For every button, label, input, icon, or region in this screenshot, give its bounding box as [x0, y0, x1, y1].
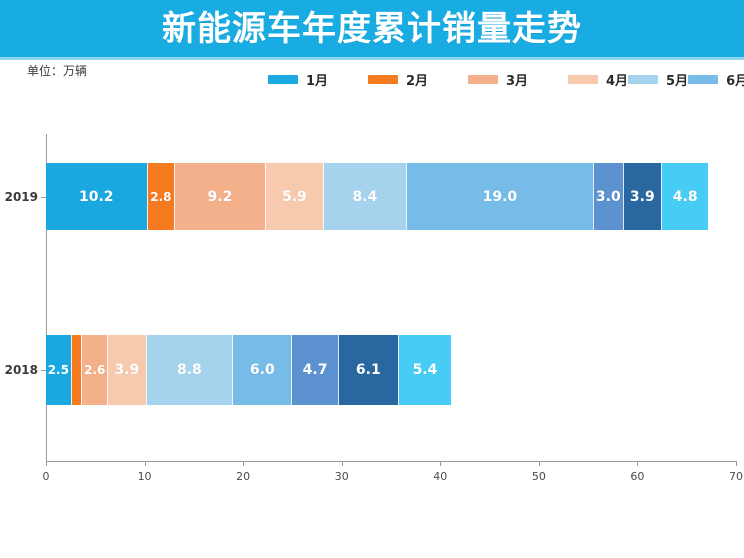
legend-item-4月[interactable]: 4月 [568, 66, 628, 92]
bar-value-label: 10.2 [79, 189, 114, 205]
bar-segment-2018-7月[interactable]: 4.7 [291, 335, 337, 405]
x-axis-tick [539, 461, 540, 466]
legend-item-label: 5月 [666, 70, 688, 89]
bar-segment-2018-4月[interactable]: 3.9 [107, 335, 145, 405]
legend-swatch-icon [368, 75, 398, 84]
page-title: 新能源车年度累计销量走势 [162, 12, 582, 46]
bar-segment-2018-5月[interactable]: 8.8 [146, 335, 233, 405]
legend-swatch-icon [268, 75, 298, 84]
y-axis-category-label-2019: 2019 [5, 190, 38, 204]
bar-value-label: 5.9 [282, 189, 307, 205]
bar-segment-2018-2月[interactable] [71, 335, 82, 405]
legend-item-label: 1月 [306, 70, 328, 89]
x-axis-tick-label: 0 [43, 470, 50, 483]
bar-segment-2019-4月[interactable]: 5.9 [265, 163, 323, 230]
bar-segment-2019-5月[interactable]: 8.4 [323, 163, 406, 230]
x-axis-tick-label: 20 [236, 470, 250, 483]
bar-segment-2019-6月[interactable]: 19.0 [406, 163, 593, 230]
x-axis-tick-label: 60 [630, 470, 644, 483]
unit-note: 单位：万辆 [27, 62, 87, 79]
x-axis-line [46, 461, 736, 462]
bar-value-label: 9.2 [208, 189, 233, 205]
chart-page: 新能源车年度累计销量走势 单位：万辆 1月2月3月4月5月6月7月8月9月 01… [0, 0, 744, 558]
bar-segment-2018-8月[interactable]: 6.1 [338, 335, 398, 405]
bar-value-label: 5.4 [413, 362, 438, 378]
x-axis-tick-label: 40 [433, 470, 447, 483]
title-bar: 新能源车年度累计销量走势 [0, 0, 744, 57]
legend-item-label: 6月 [726, 70, 744, 89]
bar-value-label: 3.0 [596, 189, 621, 205]
y-axis-category-label-2018: 2018 [5, 363, 38, 377]
bar-segment-2019-2月[interactable]: 2.8 [147, 163, 175, 230]
x-axis-tick [145, 461, 146, 466]
legend-item-5月[interactable]: 5月 [628, 66, 688, 92]
title-underline [0, 57, 744, 60]
bar-value-label: 4.8 [673, 189, 698, 205]
bar-segment-2018-6月[interactable]: 6.0 [232, 335, 291, 405]
x-axis-tick [46, 461, 47, 466]
chart-legend: 1月2月3月4月5月6月7月8月9月 [268, 66, 568, 92]
bar-value-label: 19.0 [483, 189, 518, 205]
bar-value-label: 4.7 [303, 362, 328, 378]
legend-swatch-icon [628, 75, 658, 84]
bar-segment-2019-3月[interactable]: 9.2 [174, 163, 265, 230]
legend-item-label: 2月 [406, 70, 428, 89]
bar-value-label: 6.1 [356, 362, 381, 378]
bar-segment-2019-8月[interactable]: 3.9 [623, 163, 661, 230]
bar-segment-2019-7月[interactable]: 3.0 [593, 163, 623, 230]
legend-item-6月[interactable]: 6月 [688, 66, 744, 92]
bar-row-2019: 10.22.89.25.98.419.03.03.94.8 [46, 163, 708, 230]
x-axis-tick-label: 10 [138, 470, 152, 483]
x-axis-tick [637, 461, 638, 466]
x-axis-tick-label: 50 [532, 470, 546, 483]
x-axis-tick [736, 461, 737, 466]
legend-item-3月[interactable]: 3月 [468, 66, 568, 92]
bar-value-label: 2.6 [84, 363, 105, 377]
x-axis-tick [243, 461, 244, 466]
legend-swatch-icon [688, 75, 718, 84]
bar-segment-2019-9月[interactable]: 4.8 [661, 163, 708, 230]
legend-swatch-icon [568, 75, 598, 84]
bar-segment-2018-3月[interactable]: 2.6 [81, 335, 107, 405]
bar-value-label: 3.9 [114, 362, 139, 378]
x-axis-tick-label: 70 [729, 470, 743, 483]
legend-item-label: 3月 [506, 70, 528, 89]
legend-swatch-icon [468, 75, 498, 84]
bar-value-label: 2.5 [48, 363, 69, 377]
bar-value-label: 6.0 [250, 362, 275, 378]
bar-value-label: 3.9 [630, 189, 655, 205]
x-axis-tick [342, 461, 343, 466]
bar-value-label: 8.4 [352, 189, 377, 205]
legend-item-label: 4月 [606, 70, 628, 89]
x-axis-tick [440, 461, 441, 466]
bar-value-label: 8.8 [177, 362, 202, 378]
bar-segment-2018-1月[interactable]: 2.5 [46, 335, 71, 405]
bar-row-2018: 2.52.63.98.86.04.76.15.4 [46, 335, 451, 405]
legend-item-1月[interactable]: 1月 [268, 66, 368, 92]
bar-segment-2018-9月[interactable]: 5.4 [398, 335, 451, 405]
bar-value-label: 2.8 [150, 190, 171, 204]
plot-area: 010203040506070201910.22.89.25.98.419.03… [0, 120, 744, 480]
legend-item-2月[interactable]: 2月 [368, 66, 468, 92]
bar-segment-2019-1月[interactable]: 10.2 [46, 163, 147, 230]
x-axis-tick-label: 30 [335, 470, 349, 483]
